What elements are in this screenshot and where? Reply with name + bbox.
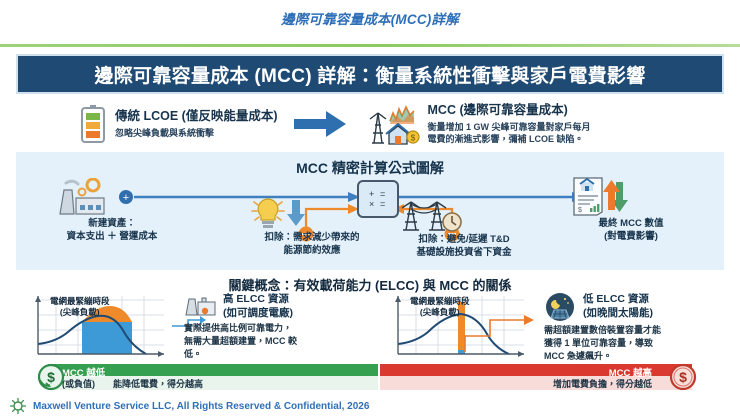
node-demand: 扣除：需求減少帶來的 能源節約效應 bbox=[248, 196, 376, 258]
power-plant-icon bbox=[52, 178, 172, 216]
svg-text:=: = bbox=[380, 199, 385, 209]
svg-text:$: $ bbox=[410, 134, 415, 143]
mcc-high-line2: 增加電費負擔，得分越低 bbox=[553, 377, 652, 390]
node-td: 扣除：避免/延遲 T&D 基礎設施投資省下資金 bbox=[394, 196, 534, 260]
night-solar-icon bbox=[544, 292, 576, 322]
banner-title: 邊際可靠容量成本 (MCC) 詳解：衡量系統性衝擊與家戶電費影響 bbox=[16, 54, 724, 94]
node-asset: 新建資產： 資本支出 ＋ 營運成本 bbox=[52, 178, 172, 244]
low-elcc-head: 低 ELCC 資源 (如晚間太陽能) bbox=[544, 292, 724, 322]
high-elcc-chart: 電網最緊繃時段 (尖峰負載) bbox=[24, 292, 174, 362]
low-elcc-section: 電網最緊繃時段 (尖峰負載) bbox=[384, 292, 724, 364]
footer: Maxwell Venture Service LLC, All Rights … bbox=[0, 396, 740, 416]
maxwell-logo-icon bbox=[10, 398, 26, 414]
footer-text: Maxwell Venture Service LLC, All Rights … bbox=[33, 401, 369, 412]
svg-text:$: $ bbox=[679, 369, 687, 385]
lcoe-text: 傳統 LCOE (僅反映能量成本) 忽略尖峰負載與系統衝擊 bbox=[115, 109, 278, 139]
coin-down-icon: $ bbox=[36, 363, 64, 391]
utility-bill-icon: $ bbox=[568, 176, 694, 216]
low-elcc-text: 低 ELCC 資源 (如晚間太陽能) 需超額建置數倍裝置容量才能 獲得 1 單位… bbox=[544, 292, 724, 363]
node-demand-caption: 扣除：需求減少帶來的 能源節約效應 bbox=[248, 232, 376, 258]
node-final-caption: 最終 MCC 數值 (對電費影響) bbox=[568, 218, 694, 244]
coin-up-icon: $ bbox=[668, 363, 696, 391]
high-elcc-head: 高 ELCC 資源 (如可調度電廠) bbox=[184, 292, 364, 320]
score-bars: MCC 越低 (或負值) 能降低電費，得分越高 $ MCC 越高 增加電費負擔，… bbox=[20, 364, 720, 390]
right-arrow-icon bbox=[294, 111, 346, 137]
formula-panel: MCC 精密計算公式圖解 + + = × = bbox=[16, 152, 724, 270]
mcc-subtitle: 衡量增加 1 GW 尖峰可靠容量對家戶每月 電費的漸進式影響，彌補 LCOE 缺… bbox=[428, 121, 591, 145]
page-eyebrow-title: 邊際可靠容量成本(MCC)詳解 bbox=[0, 8, 740, 28]
mcc-high-bar: MCC 越高 增加電費負擔，得分越低 bbox=[380, 364, 692, 390]
lightbulb-down-arrow-icon bbox=[248, 196, 376, 230]
svg-text:$: $ bbox=[578, 207, 582, 214]
mcc-low-line2: (或負值) 能降低電費，得分越高 bbox=[62, 377, 203, 390]
high-elcc-title: 高 ELCC 資源 (如可調度電廠) bbox=[223, 292, 293, 320]
svg-text:=: = bbox=[380, 189, 385, 199]
comparison-row: 傳統 LCOE (僅反映能量成本) 忽略尖峰負載與系統衝擊 bbox=[16, 98, 724, 150]
low-elcc-title: 低 ELCC 資源 (如晚間太陽能) bbox=[583, 292, 653, 320]
low-elcc-chart-label: 電網最緊繃時段 (尖峰負載) bbox=[410, 296, 470, 318]
transmission-clock-icon bbox=[394, 196, 534, 232]
transmission-tower-house-icon: $ bbox=[366, 103, 420, 145]
high-elcc-body: 實際提供高比例可靠電力， 無需大量超額建置，MCC 較 低。 bbox=[184, 322, 364, 361]
node-td-caption: 扣除：避免/延遲 T&D 基礎設施投資省下資金 bbox=[394, 234, 534, 260]
mcc-title: MCC (邊際可靠容量成本) bbox=[428, 103, 591, 119]
mcc-low-bar: MCC 越低 (或負值) 能降低電費，得分越高 bbox=[48, 364, 378, 390]
lcoe-block: 傳統 LCOE (僅反映能量成本) 忽略尖峰負載與系統衝擊 bbox=[80, 105, 278, 143]
lcoe-subtitle: 忽略尖峰負載與系統衝擊 bbox=[115, 127, 278, 139]
high-elcc-text: 高 ELCC 資源 (如可調度電廠) 實際提供高比例可靠電力， 無需大量超額建置… bbox=[184, 292, 364, 361]
high-elcc-section: 電網最緊繃時段 (尖峰負載) 高 ELCC 資源 (如可調度電廠) 實際提供高比… bbox=[24, 292, 364, 364]
slide-root: 邊際可靠容量成本(MCC)詳解 邊際可靠容量成本 (MCC) 詳解：衡量系統性衝… bbox=[0, 0, 740, 416]
battery-icon bbox=[80, 105, 106, 143]
node-asset-caption: 新建資產： 資本支出 ＋ 營運成本 bbox=[52, 218, 172, 244]
svg-text:$: $ bbox=[47, 369, 55, 385]
mcc-block: $ MCC (邊際可靠容量成本) 衡量增加 1 GW 尖峰可靠容量對家戶每月 電… bbox=[366, 103, 591, 145]
lcoe-title: 傳統 LCOE (僅反映能量成本) bbox=[115, 109, 278, 125]
power-plant-icon bbox=[184, 292, 216, 316]
high-elcc-chart-label: 電網最緊繃時段 (尖峰負載) bbox=[50, 296, 110, 318]
low-elcc-connector bbox=[462, 310, 536, 354]
mcc-text: MCC (邊際可靠容量成本) 衡量增加 1 GW 尖峰可靠容量對家戶每月 電費的… bbox=[428, 103, 591, 145]
low-elcc-body: 需超額建置數倍裝置容量才能 獲得 1 單位可靠容量，導致 MCC 急遽飆升。 bbox=[544, 324, 724, 363]
node-final: $ 最終 MCC 數值 (對電費影響) bbox=[568, 176, 694, 244]
green-divider bbox=[0, 44, 740, 47]
